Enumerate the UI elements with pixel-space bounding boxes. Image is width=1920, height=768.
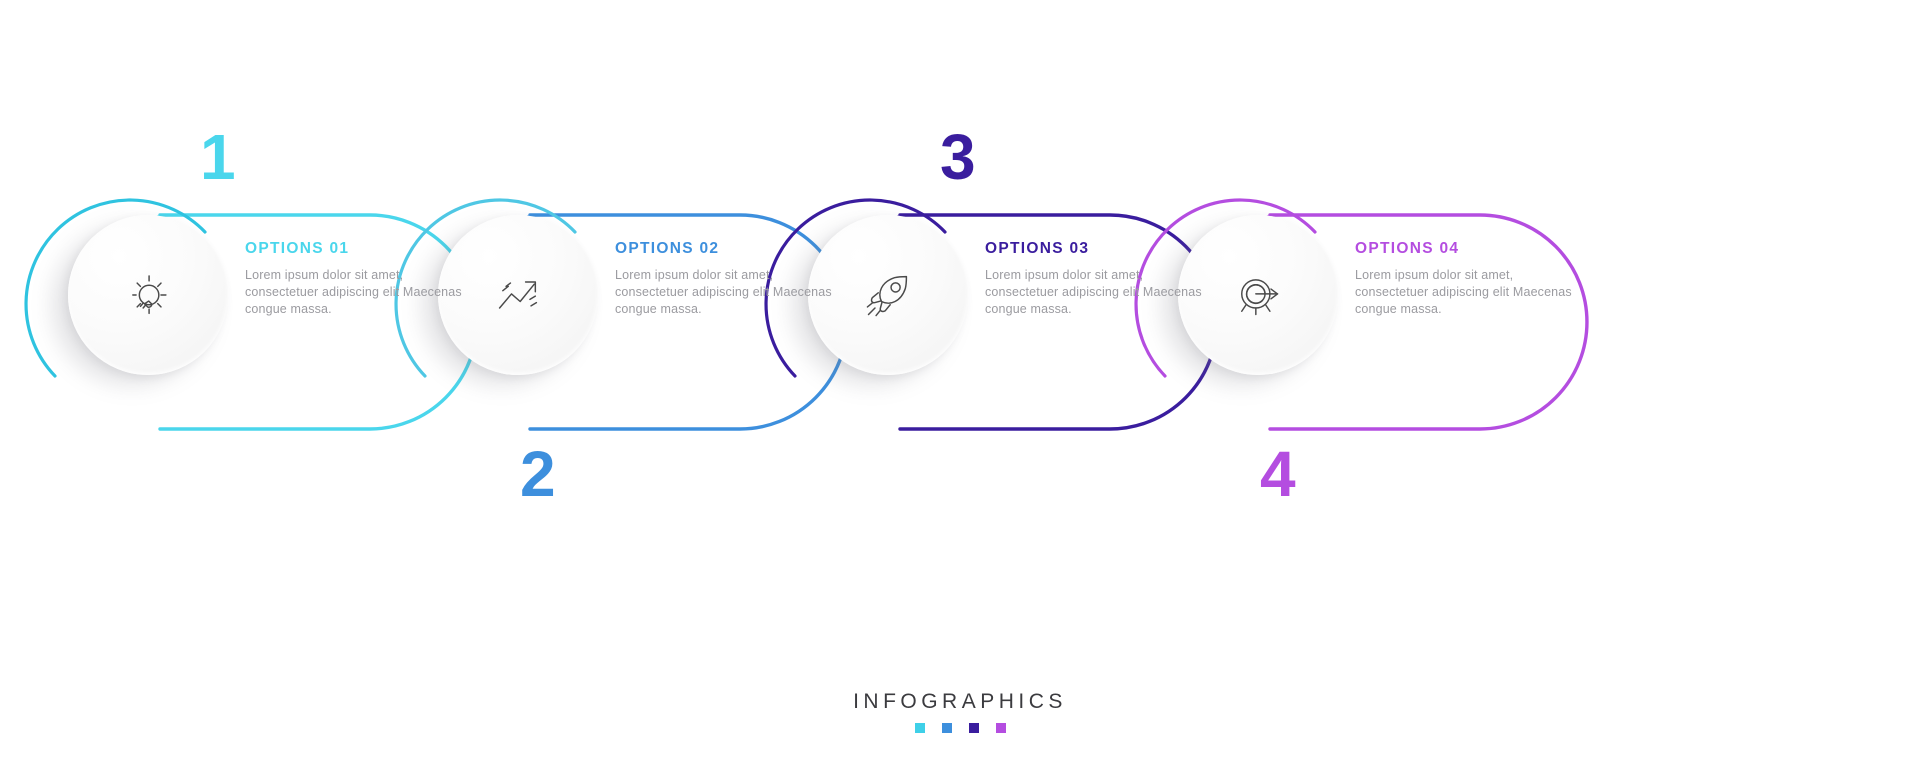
target-icon-glyph — [1232, 269, 1284, 321]
step-number-1: 1 — [200, 125, 235, 189]
card-text-1: OPTIONS 01Lorem ipsum dolor sit amet, co… — [245, 240, 475, 317]
infographic-root: OPTIONS 01Lorem ipsum dolor sit amet, co… — [0, 0, 1920, 768]
trending-up-icon-glyph — [492, 269, 544, 321]
card-text-4: OPTIONS 04Lorem ipsum dolor sit amet, co… — [1355, 240, 1585, 317]
footer-dots — [0, 723, 1920, 733]
footer-dot-2 — [942, 723, 952, 733]
option-card-4[interactable]: OPTIONS 04Lorem ipsum dolor sit amet, co… — [1150, 170, 1620, 500]
footer-title: INFOGRAPHICS — [0, 690, 1920, 714]
option-description-3: Lorem ipsum dolor sit amet, consectetuer… — [985, 267, 1215, 317]
footer-dot-3 — [969, 723, 979, 733]
option-title-4: OPTIONS 04 — [1355, 240, 1585, 258]
option-title-2: OPTIONS 02 — [615, 240, 845, 258]
option-title-1: OPTIONS 01 — [245, 240, 475, 258]
icon-disc-1[interactable] — [68, 215, 228, 375]
cards-row: OPTIONS 01Lorem ipsum dolor sit amet, co… — [0, 0, 1920, 560]
footer-dot-1 — [915, 723, 925, 733]
option-description-4: Lorem ipsum dolor sit amet, consectetuer… — [1355, 267, 1585, 317]
option-description-2: Lorem ipsum dolor sit amet, consectetuer… — [615, 267, 845, 317]
lightbulb-icon-glyph — [122, 269, 174, 321]
footer: INFOGRAPHICS — [0, 690, 1920, 733]
option-title-3: OPTIONS 03 — [985, 240, 1215, 258]
rocket-icon-glyph — [862, 269, 914, 321]
card-text-2: OPTIONS 02Lorem ipsum dolor sit amet, co… — [615, 240, 845, 317]
step-number-4: 4 — [1260, 442, 1295, 506]
step-number-3: 3 — [940, 125, 975, 189]
option-description-1: Lorem ipsum dolor sit amet, consectetuer… — [245, 267, 475, 317]
card-text-3: OPTIONS 03Lorem ipsum dolor sit amet, co… — [985, 240, 1215, 317]
step-number-2: 2 — [520, 442, 555, 506]
footer-dot-4 — [996, 723, 1006, 733]
